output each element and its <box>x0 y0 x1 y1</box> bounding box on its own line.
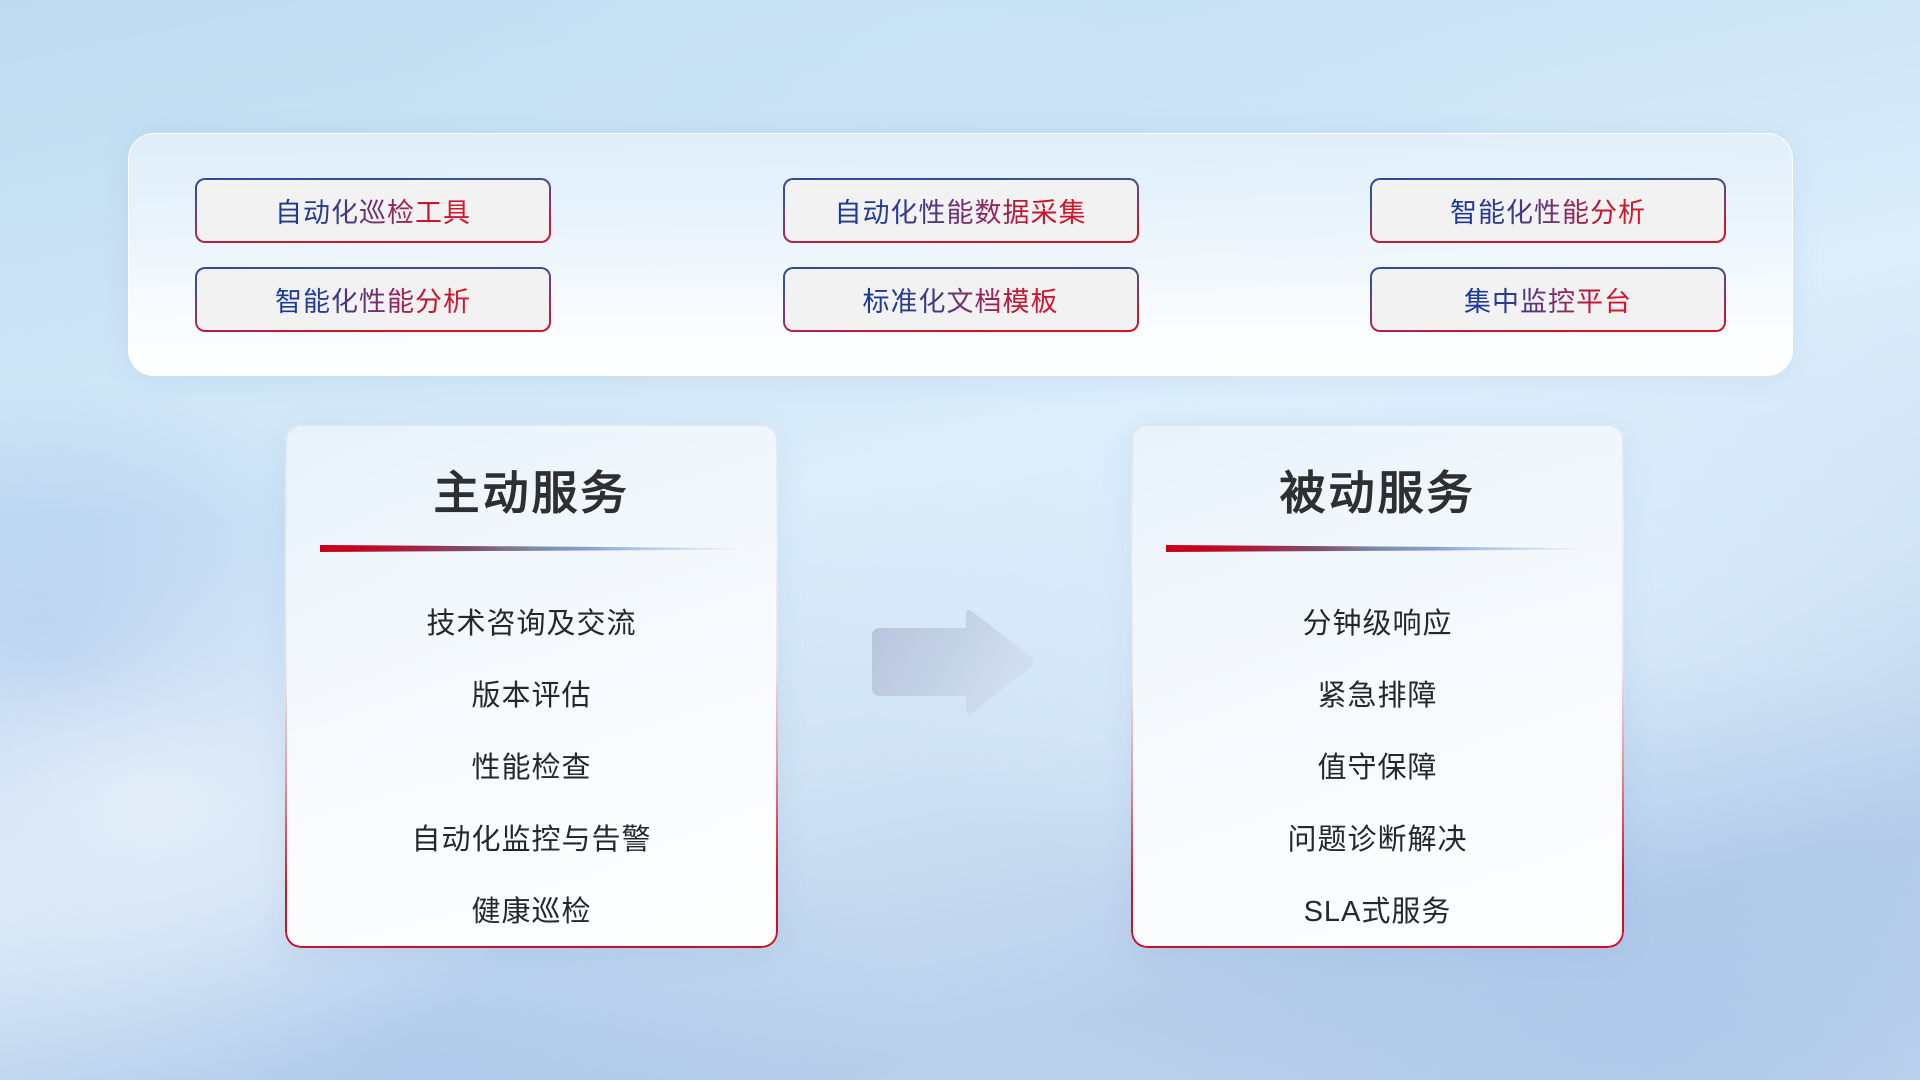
capability-pill-intelligent-performance-analysis-top[interactable]: 智能化性能分析 <box>1370 178 1726 243</box>
card-content: 被动服务 分钟级响应 紧急排障 值守保障 问题诊断解决 SLA式服务 <box>1131 424 1624 948</box>
service-card-reactive: 被动服务 分钟级响应 紧急排障 值守保障 问题诊断解决 SLA式服务 <box>1131 424 1624 948</box>
card-title: 主动服务 <box>434 457 630 523</box>
capability-row-1: 自动化巡检工具 自动化性能数据采集 智能化性能分析 <box>195 178 1726 243</box>
card-title: 被动服务 <box>1280 457 1476 523</box>
service-card-proactive: 主动服务 技术咨询及交流 版本评估 性能检查 自动化监控与告警 健康巡检 <box>285 424 778 948</box>
list-item: 问题诊断解决 <box>1287 804 1467 876</box>
list-item: 技术咨询及交流 <box>426 588 636 660</box>
capability-pill-centralized-monitoring-platform[interactable]: 集中监控平台 <box>1370 267 1726 332</box>
card-content: 主动服务 技术咨询及交流 版本评估 性能检查 自动化监控与告警 健康巡检 <box>285 424 778 948</box>
capability-pill-label: 智能化性能分析 <box>275 280 471 319</box>
capability-pill-label: 自动化巡检工具 <box>275 191 471 230</box>
card-item-list: 技术咨询及交流 版本评估 性能检查 自动化监控与告警 健康巡检 <box>285 588 778 948</box>
list-item: SLA式服务 <box>1304 876 1452 948</box>
capability-panel: 自动化巡检工具 自动化性能数据采集 智能化性能分析 智能化性能分析 标准化文档模… <box>128 133 1793 376</box>
arrow-right-icon <box>870 610 1035 715</box>
card-item-list: 分钟级响应 紧急排障 值守保障 问题诊断解决 SLA式服务 <box>1131 588 1624 948</box>
capability-pill-standardized-document-template[interactable]: 标准化文档模板 <box>783 267 1139 332</box>
list-item: 紧急排障 <box>1317 660 1437 732</box>
list-item: 自动化监控与告警 <box>411 804 651 876</box>
list-item: 版本评估 <box>471 660 591 732</box>
capability-pill-label: 智能化性能分析 <box>1450 191 1646 230</box>
capability-row-2: 智能化性能分析 标准化文档模板 集中监控平台 <box>195 267 1726 332</box>
slide-canvas: 自动化巡检工具 自动化性能数据采集 智能化性能分析 智能化性能分析 标准化文档模… <box>0 0 1920 1080</box>
card-divider-rule <box>320 545 744 552</box>
list-item: 值守保障 <box>1317 732 1437 804</box>
list-item: 性能检查 <box>471 732 591 804</box>
card-divider-rule <box>1166 545 1590 552</box>
list-item: 健康巡检 <box>471 876 591 948</box>
capability-pill-automated-inspection-tool[interactable]: 自动化巡检工具 <box>195 178 551 243</box>
list-item: 分钟级响应 <box>1302 588 1452 660</box>
capability-pill-label: 标准化文档模板 <box>863 280 1059 319</box>
capability-pill-label: 集中监控平台 <box>1464 280 1632 319</box>
capability-pill-intelligent-performance-analysis[interactable]: 智能化性能分析 <box>195 267 551 332</box>
capability-pill-automated-performance-data-collection[interactable]: 自动化性能数据采集 <box>783 178 1139 243</box>
capability-pill-label: 自动化性能数据采集 <box>835 191 1087 230</box>
